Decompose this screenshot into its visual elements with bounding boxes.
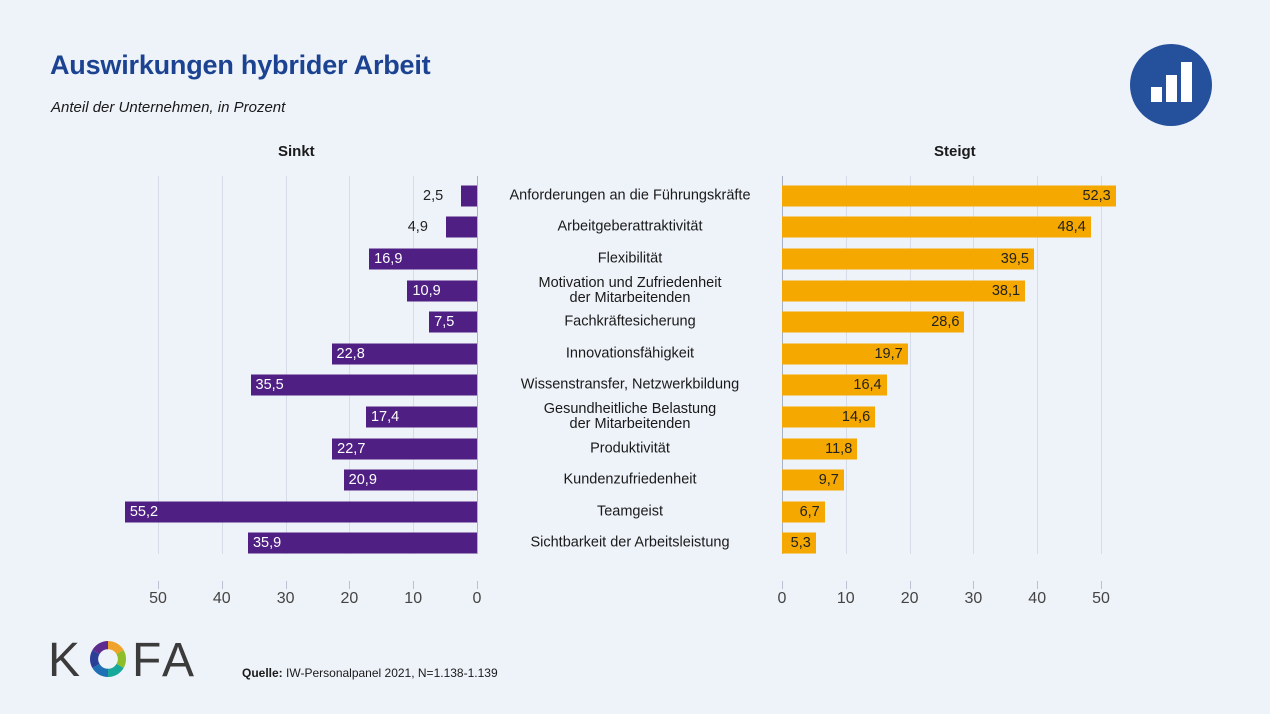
tickmark-left-20 <box>349 581 350 589</box>
tick-label-right-30: 30 <box>964 590 982 608</box>
chart-page: Auswirkungen hybrider Arbeit Anteil der … <box>0 0 1270 714</box>
tickmark-right-30 <box>973 581 974 589</box>
bar-sinkt[interactable] <box>461 185 477 206</box>
category-label: Innovationsfähigkeit <box>490 346 770 362</box>
badge-bar-2 <box>1166 75 1177 102</box>
tickmark-left-40 <box>222 581 223 589</box>
chart-row: 2,552,3Anforderungen an die Führungskräf… <box>0 180 1270 212</box>
value-label-steigt: 16,4 <box>850 378 882 393</box>
value-label-sinkt: 16,9 <box>374 252 402 267</box>
category-label: Produktivität <box>490 441 770 457</box>
value-label-sinkt: 55,2 <box>130 504 158 519</box>
value-label-steigt: 48,4 <box>1054 220 1086 235</box>
kofa-logo-svg: K F A <box>48 632 198 690</box>
category-label: Flexibilität <box>490 251 770 267</box>
source-text: IW-Personalpanel 2021, N=1.138-1.139 <box>286 666 498 680</box>
source-note: Quelle: IW-Personalpanel 2021, N=1.138-1… <box>242 666 498 680</box>
bar-steigt[interactable] <box>782 217 1091 238</box>
tickmark-right-0 <box>782 581 783 589</box>
tick-label-right-0: 0 <box>778 590 787 608</box>
category-label: Teamgeist <box>490 504 770 520</box>
svg-text:K: K <box>48 634 80 687</box>
badge-bar-1 <box>1151 87 1162 102</box>
chart-row: 20,99,7Kundenzufriedenheit <box>0 464 1270 496</box>
tick-label-left-0: 0 <box>473 590 482 608</box>
value-label-sinkt: 2,5 <box>423 189 443 204</box>
chart-row: 16,939,5Flexibilität <box>0 243 1270 275</box>
tick-label-left-30: 30 <box>277 590 295 608</box>
bar-sinkt[interactable] <box>125 501 477 522</box>
value-label-steigt: 6,7 <box>788 504 820 519</box>
category-label: Wissenstransfer, Netzwerkbildung <box>490 378 770 394</box>
value-label-sinkt: 4,9 <box>408 220 428 235</box>
category-label: Kundenzufriedenheit <box>490 472 770 488</box>
chart-row: 4,948,4Arbeitgeberattraktivität <box>0 212 1270 244</box>
tick-label-right-10: 10 <box>837 590 855 608</box>
chart-row: 35,516,4Wissenstransfer, Netzwerkbildung <box>0 370 1270 402</box>
value-label-sinkt: 10,9 <box>412 283 440 298</box>
tick-label-right-20: 20 <box>901 590 919 608</box>
column-header-steigt: Steigt <box>934 143 976 160</box>
category-label: Motivation und Zufriedenheitder Mitarbei… <box>490 275 770 305</box>
bar-sinkt[interactable] <box>248 533 477 554</box>
value-label-sinkt: 20,9 <box>349 473 377 488</box>
page-title: Auswirkungen hybrider Arbeit <box>50 50 430 81</box>
tickmark-right-40 <box>1037 581 1038 589</box>
column-header-sinkt: Sinkt <box>278 143 315 160</box>
tickmark-right-10 <box>846 581 847 589</box>
chart-row: 10,938,1Motivation und Zufriedenheitder … <box>0 275 1270 307</box>
chart-row: 7,528,6Fachkräftesicherung <box>0 306 1270 338</box>
plot-area: 2,552,3Anforderungen an die Führungskräf… <box>0 176 1270 576</box>
badge-bars <box>1130 44 1212 126</box>
chart-row: 22,711,8Produktivität <box>0 433 1270 465</box>
kofa-logo: K F A <box>48 632 198 690</box>
source-label: Quelle: <box>242 666 283 680</box>
tick-label-left-40: 40 <box>213 590 231 608</box>
tick-label-left-50: 50 <box>149 590 167 608</box>
value-label-steigt: 38,1 <box>988 283 1020 298</box>
tick-label-left-20: 20 <box>340 590 358 608</box>
value-label-sinkt: 22,8 <box>337 347 365 362</box>
value-label-steigt: 28,6 <box>927 315 959 330</box>
tickmark-left-0 <box>477 581 478 589</box>
axis-tick-labels: 5040302010001020304050 <box>0 590 1270 614</box>
bar-steigt[interactable] <box>782 185 1116 206</box>
badge-bar-3 <box>1181 62 1192 102</box>
value-label-steigt: 11,8 <box>820 441 852 456</box>
bar-sinkt[interactable] <box>251 375 477 396</box>
tickmark-left-10 <box>413 581 414 589</box>
kofa-swirl-icon <box>90 641 126 677</box>
bar-rows: 2,552,3Anforderungen an die Führungskräf… <box>0 180 1270 559</box>
value-label-steigt: 39,5 <box>997 252 1029 267</box>
value-label-steigt: 14,6 <box>838 410 870 425</box>
value-label-steigt: 5,3 <box>779 536 811 551</box>
category-label: Sichtbarkeit der Arbeitsleistung <box>490 536 770 552</box>
tickmark-left-50 <box>158 581 159 589</box>
chart-row: 55,26,7Teamgeist <box>0 496 1270 528</box>
value-label-sinkt: 17,4 <box>371 410 399 425</box>
svg-text:F: F <box>132 634 161 687</box>
value-label-sinkt: 35,9 <box>253 536 281 551</box>
page-subtitle: Anteil der Unternehmen, in Prozent <box>51 99 285 116</box>
value-label-steigt: 52,3 <box>1079 189 1111 204</box>
tick-label-left-10: 10 <box>404 590 422 608</box>
bar-chart-icon <box>1130 44 1212 126</box>
category-label: Gesundheitliche Belastungder Mitarbeiten… <box>490 402 770 432</box>
chart-row: 22,819,7Innovationsfähigkeit <box>0 338 1270 370</box>
tickmark-left-30 <box>286 581 287 589</box>
chart-row: 17,414,6Gesundheitliche Belastungder Mit… <box>0 401 1270 433</box>
svg-text:A: A <box>162 634 194 687</box>
tickmark-right-20 <box>910 581 911 589</box>
tick-label-right-50: 50 <box>1092 590 1110 608</box>
category-label: Arbeitgeberattraktivität <box>490 220 770 236</box>
chart-row: 35,95,3Sichtbarkeit der Arbeitsleistung <box>0 528 1270 560</box>
category-label: Anforderungen an die Führungskräfte <box>490 188 770 204</box>
value-label-sinkt: 22,7 <box>337 441 365 456</box>
value-label-sinkt: 7,5 <box>434 315 454 330</box>
value-label-steigt: 9,7 <box>807 473 839 488</box>
value-label-sinkt: 35,5 <box>256 378 284 393</box>
category-label: Fachkräftesicherung <box>490 314 770 330</box>
tickmark-right-50 <box>1101 581 1102 589</box>
value-label-steigt: 19,7 <box>871 347 903 362</box>
bar-sinkt[interactable] <box>446 217 477 238</box>
tick-label-right-40: 40 <box>1028 590 1046 608</box>
